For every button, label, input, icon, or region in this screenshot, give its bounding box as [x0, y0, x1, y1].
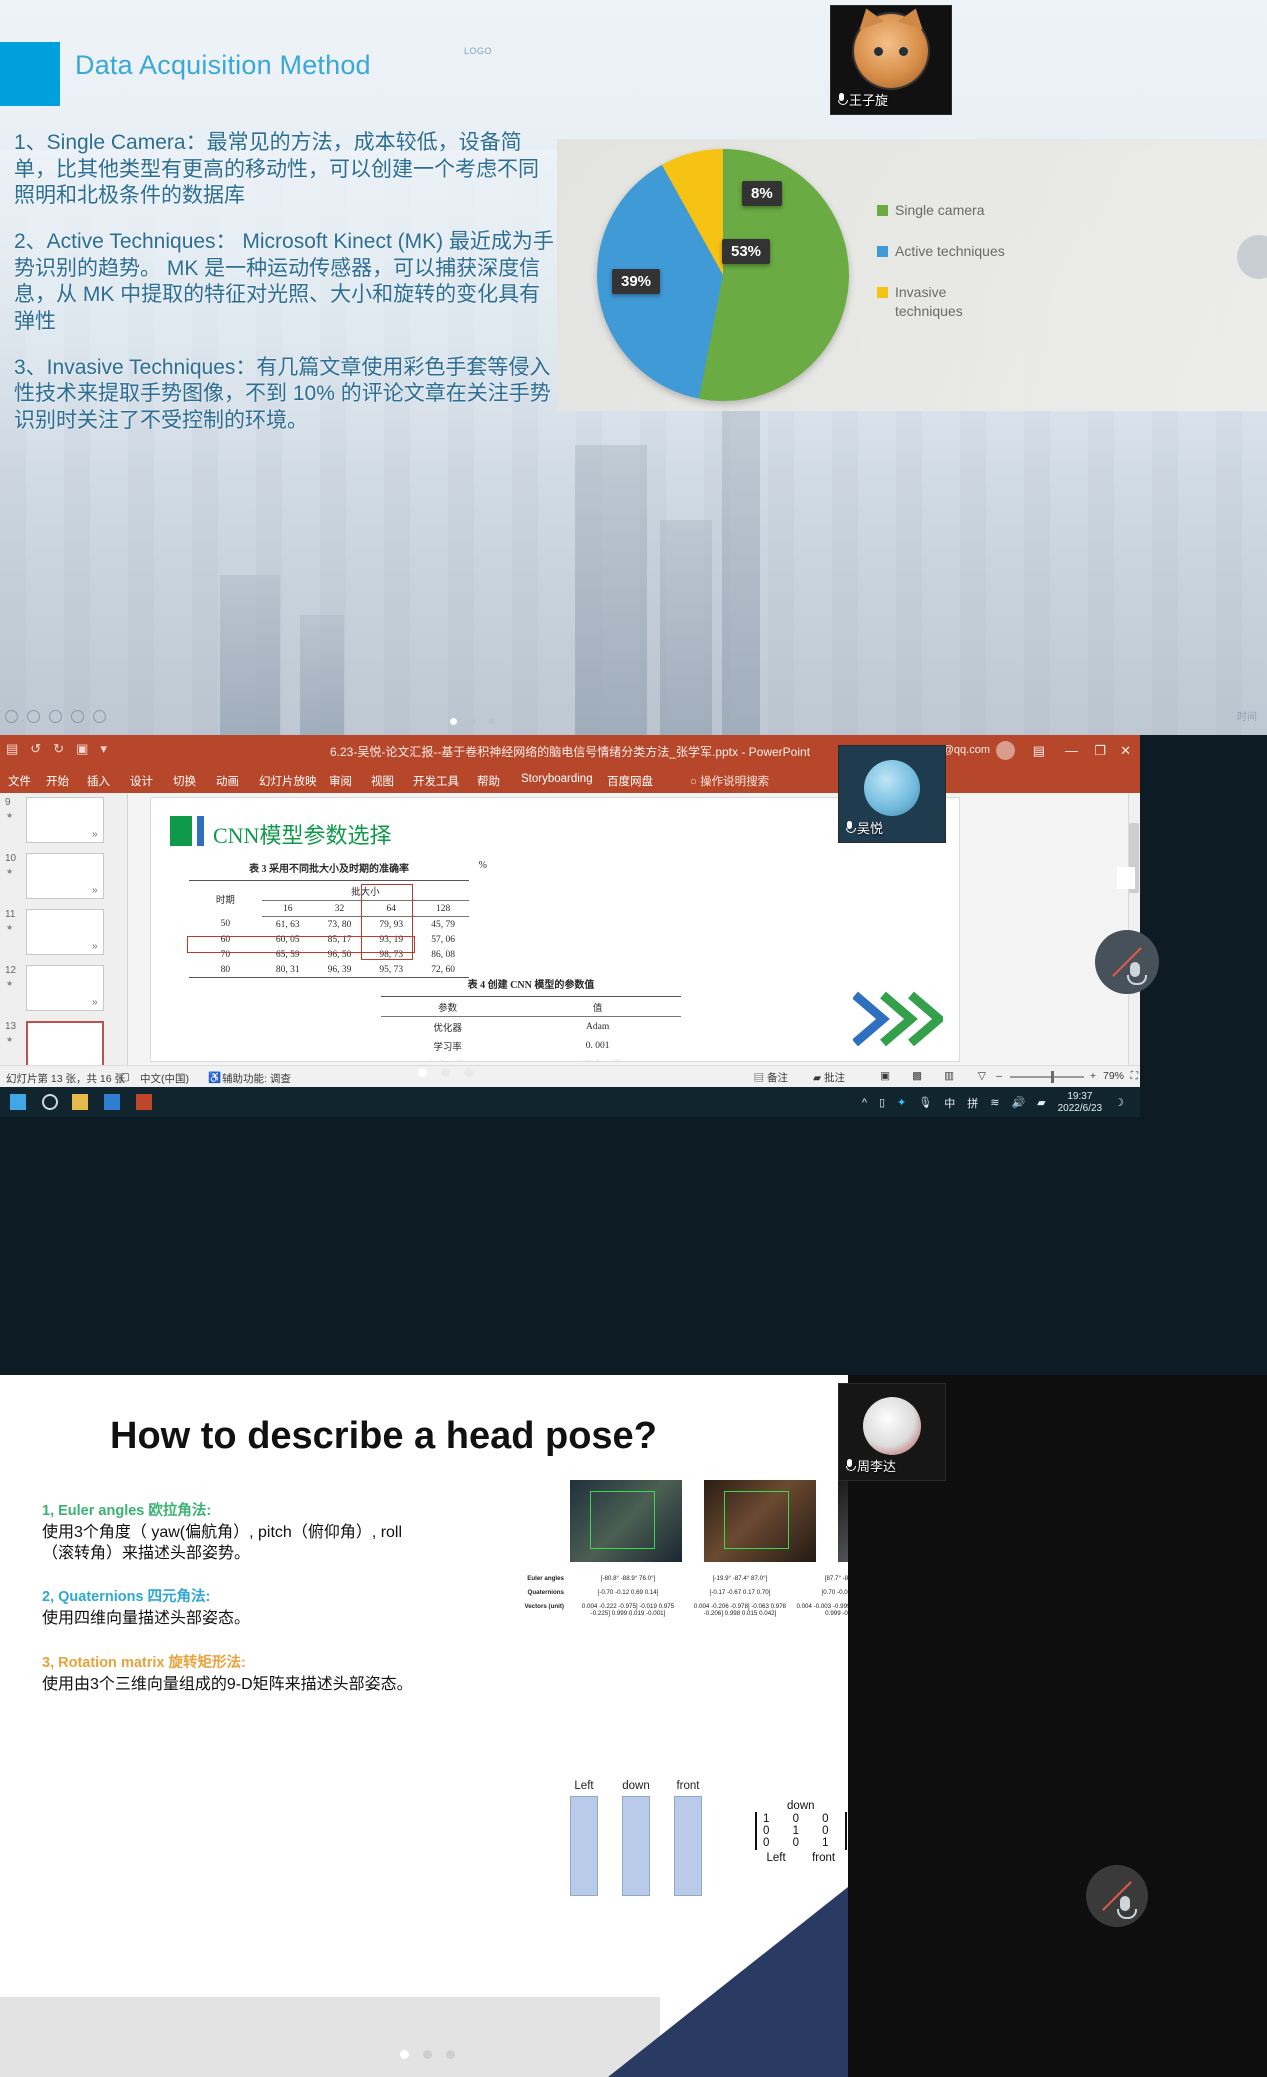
tab-baidu-netdisk[interactable]: 百度网盘 [607, 773, 653, 789]
participant-name-badge: 吴悦 [845, 818, 883, 837]
zoom-in-button[interactable]: + [1090, 1070, 1096, 1082]
legend-label-single-camera: Single camera [895, 201, 985, 220]
matrix-label-front: front [812, 1852, 835, 1864]
table-cell: 损失函数 [381, 1055, 514, 1062]
thumbnail-number-12: 12 [5, 965, 16, 976]
legend-label-active-techniques: Active techniques [895, 242, 1005, 261]
view-slideshow-icon[interactable]: ▽ [978, 1070, 986, 1082]
clock-date: 2022/6/23 [1058, 1103, 1103, 1115]
table-3-caption: 表 3 采用不同批大小及时期的准确率 % [189, 860, 469, 875]
thumbnail-number-10: 10 [5, 853, 16, 864]
bar-down [622, 1796, 650, 1896]
pie-chart: 8% 39% 53% Single camera Active techniqu… [557, 139, 1267, 411]
body-euler-angles: 使用3个角度（ yaw(偏航角）, pitch（俯仰角）, roll（滚转角）来… [42, 1523, 422, 1565]
table-cell: 96, 39 [314, 962, 366, 978]
table-cell: 0.004 -0.222 -0.975] -0.019 0.975 -0.225… [572, 1603, 684, 1617]
slide-canvas: How to describe a head pose? 1, Euler an… [0, 1375, 848, 2077]
thumbnail-number-13: 13 [5, 1021, 16, 1032]
microphone-icon [845, 821, 854, 834]
title-accent-green [170, 816, 192, 846]
participant-name: 王子旋 [849, 90, 888, 109]
logo-placeholder: LOGO [464, 46, 492, 56]
thumbnail-star-10: ★ [6, 867, 13, 876]
carousel-dot-3[interactable] [464, 1068, 473, 1077]
taskbar-clock[interactable]: 19:37 2022/6/23 [1058, 1091, 1103, 1114]
fit-to-window-icon[interactable]: ⛶ [1131, 1070, 1138, 1083]
bullet-single-camera: 1、Single Camera：最常见的方法，成本较低，设备简单，比其他类型有更… [14, 130, 559, 210]
table-4-col-value: 值 [514, 997, 681, 1017]
thumbnail-chevron-11[interactable]: » [92, 941, 98, 952]
carousel-dots[interactable] [400, 2050, 455, 2059]
heading-quaternions: 2, Quaternions 四元角法: [42, 1585, 422, 1606]
carousel-dot-2[interactable] [469, 718, 476, 725]
table-row: 50 61, 63 73, 80 79, 93 45, 79 [189, 917, 469, 933]
zoom-slider-knob[interactable] [1051, 1071, 1054, 1083]
thumbnail-star-12: ★ [6, 979, 13, 988]
thumbnail-chevron-9[interactable]: » [92, 829, 98, 840]
ime-type-indicator[interactable]: 拼 [967, 1095, 978, 1111]
windows-taskbar[interactable]: ^ ▯ ✦ 🎙 中 拼 ≋ 🔊 ▰ 19:37 2022/6/23 ☽ [0, 1087, 1140, 1117]
row-label-quaternions: Quaternions [510, 1589, 572, 1596]
zoom-slider-track[interactable] [1010, 1076, 1084, 1078]
tab-animations[interactable]: 动画 [216, 773, 239, 789]
body-rotation-matrix: 使用由3个三维向量组成的9-D矩阵来描述头部姿态。 [42, 1675, 422, 1696]
table-row: 损失函数分类交叉熵 [381, 1055, 681, 1062]
carousel-dot-1[interactable] [400, 2050, 409, 2059]
table-cell: 86, 08 [417, 947, 469, 962]
bar-front [674, 1796, 702, 1896]
ribbon-display-options-icon[interactable]: ▤ [1033, 743, 1045, 759]
tab-help[interactable]: 帮助 [477, 773, 500, 789]
avatar [863, 1397, 921, 1455]
pie-label-active: 39% [612, 269, 660, 294]
legend-item-single-camera: Single camera [877, 201, 1005, 220]
matrix-label-left: Left [766, 1852, 785, 1864]
avatar [854, 14, 928, 88]
face-image-1 [570, 1480, 682, 1562]
pie-label-single: 53% [722, 239, 770, 264]
powerpoint-taskbar-icon[interactable] [136, 1094, 152, 1110]
view-reading-icon[interactable]: ▥ [944, 1070, 954, 1082]
bar-label-down: down [622, 1780, 650, 1792]
table-cell: 0.004 -0.206 -0.978] -0.063 0.978 -0.206… [684, 1603, 796, 1617]
table-cell: 57, 06 [417, 932, 469, 947]
table-cell: [-0.70 -0.12 0.69 0.14] [572, 1589, 684, 1596]
thumbnail-star-13: ★ [6, 1035, 13, 1044]
matrix-row-1: 1 0 0 [763, 1813, 839, 1825]
file-explorer-icon[interactable] [72, 1094, 88, 1110]
face-bounding-box [590, 1491, 655, 1548]
lightbulb-icon: ○ [690, 776, 700, 788]
status-bar: 幻灯片第 13 张，共 16 张 ▢ 中文(中国) ♿ 辅助功能: 调查 ▤ 备… [0, 1065, 1140, 1087]
heading-rotation-matrix: 3, Rotation matrix 旋转矩形法: [42, 1651, 422, 1672]
corner-decoration [608, 1887, 848, 2077]
row-label-euler: Euler angles [510, 1575, 572, 1582]
clock-time: 19:37 [1058, 1091, 1103, 1103]
carousel-dot-3[interactable] [446, 2050, 455, 2059]
carousel-dot-1[interactable] [418, 1068, 427, 1077]
title-bar: ▤ ↺ ↻ ▣ ▾ 6.23-吴悦-论文汇报--基于卷积神经网络的脑电信号情绪分… [0, 735, 1140, 768]
microphone-tray-icon[interactable]: 🎙 [918, 1096, 932, 1109]
footer-band [0, 1997, 660, 2077]
participant-name-badge: 王子旋 [837, 90, 888, 109]
matrix-row-3: 0 0 1 [763, 1837, 839, 1849]
tab-view[interactable]: 视图 [371, 773, 394, 789]
bar-label-left: Left [570, 1780, 598, 1792]
thumbnail-chevron-10[interactable]: » [92, 885, 98, 896]
table-cell: 分类交叉熵 [514, 1055, 681, 1062]
legend-swatch-blue [877, 246, 888, 257]
table-3-row-header: 时期 [189, 881, 262, 917]
bar-row [570, 1796, 702, 1896]
bullet-active-techniques: 2、Active Techniques： Microsoft Kinect (M… [14, 229, 559, 336]
table-3-col-128: 128 [417, 901, 469, 917]
table-cell: [-80.8° -88.9° 76.0°] [572, 1575, 684, 1582]
carousel-dot-2[interactable] [423, 2050, 432, 2059]
view-sorter-icon[interactable]: ▩ [912, 1070, 922, 1082]
participant-name: 周李达 [857, 1456, 896, 1475]
pie-chart-legend: Single camera Active techniques Invasive… [877, 201, 1005, 343]
system-tray[interactable]: ^ ▯ ✦ 🎙 中 拼 ≋ 🔊 ▰ 19:37 2022/6/23 ☽ [862, 1091, 1124, 1114]
page-title: How to describe a head pose? [110, 1415, 657, 1458]
tab-slideshow[interactable]: 幻灯片放映 [259, 773, 317, 789]
table-4-col-param: 参数 [381, 997, 514, 1017]
body-quaternions: 使用四维向量描述头部姿态。 [42, 1609, 422, 1630]
ime-mode-indicator[interactable]: 中 [944, 1095, 955, 1111]
thumbnail-chevron-12[interactable]: » [92, 997, 98, 1008]
table-3-col-16: 16 [262, 901, 314, 917]
tell-me-search[interactable]: ○ 操作说明搜索 [690, 773, 769, 789]
battery-icon[interactable]: ▰ [1037, 1096, 1045, 1109]
face-image-2 [704, 1480, 816, 1562]
close-button[interactable]: ✕ [1120, 743, 1131, 759]
participant-name: 吴悦 [857, 818, 883, 837]
powerpoint-window[interactable]: ▤ ↺ ↻ ▣ ▾ 6.23-吴悦-论文汇报--基于卷积神经网络的脑电信号情绪分… [0, 735, 1267, 1375]
microphone-icon [845, 1459, 854, 1472]
highlight-row-70 [187, 936, 415, 953]
slide-body-text: 1, Euler angles 欧拉角法: 使用3个角度（ yaw(偏航角）, … [42, 1485, 422, 1696]
table-cell: 0. 001 [514, 1036, 681, 1055]
table-row: 优化器Adam [381, 1017, 681, 1037]
mute-microphone-button[interactable] [1095, 930, 1159, 994]
bar-labels: Left down front [570, 1780, 702, 1792]
axis-bars-diagram: Left down front [570, 1780, 702, 1896]
meeting-side-panel [1140, 735, 1267, 1375]
table-cell: 73, 80 [314, 917, 366, 933]
legend-item-active-techniques: Active techniques [877, 242, 1005, 261]
table-3-col-32: 32 [314, 901, 366, 917]
page-title: Data Acquisition Method [75, 50, 371, 81]
ribbon-tab-bar[interactable]: 文件 开始 插入 设计 切换 动画 幻灯片放映 审阅 视图 开发工具 帮助 St… [0, 768, 1140, 793]
minimize-button[interactable]: — [1065, 743, 1078, 758]
thumbnail-slide-13-selected[interactable] [26, 1021, 104, 1065]
microphone-icon [837, 93, 846, 106]
notes-button[interactable]: ▤ 备注 [754, 1070, 788, 1085]
bullet-invasive-techniques: 3、Invasive Techniques：有几篇文章使用彩色手套等侵入性技术来… [14, 355, 559, 435]
matrix-row-2: 0 1 0 [763, 1825, 839, 1837]
slide-body-text: 1、Single Camera：最常见的方法，成本较低，设备简单，比其他类型有更… [14, 130, 559, 454]
table-cell: 61, 63 [262, 917, 314, 933]
table-3: 表 3 采用不同批大小及时期的准确率 % 时期 批大小 16 32 64 128 [189, 860, 469, 978]
row-label-vectors: Vectors (unit) [510, 1603, 572, 1617]
face-bounding-box [724, 1491, 789, 1548]
legend-label-invasive-techniques: Invasive techniques [895, 283, 990, 321]
matrix-bracket: 1 0 0 0 1 0 0 0 1 [755, 1812, 847, 1850]
slideshow-toolbar[interactable] [5, 710, 106, 723]
slides-grid-icon[interactable] [71, 710, 84, 723]
zoom-level[interactable]: 79% [1103, 1070, 1124, 1082]
table-row: 学习率0. 001 [381, 1036, 681, 1055]
identity-matrix-diagram: down 1 0 0 0 1 0 0 0 1 Left front [755, 1800, 847, 1864]
table-cell: Adam [514, 1017, 681, 1037]
table-3-epoch-50: 50 [189, 917, 262, 933]
tab-storyboarding[interactable]: Storyboarding [521, 773, 593, 785]
accessibility-icon[interactable]: ♿ [208, 1071, 221, 1084]
chevron-decoration [853, 991, 943, 1047]
pointer-tool-icon[interactable] [27, 710, 40, 723]
bar-label-front: front [674, 1780, 702, 1792]
table-cell: 45, 79 [417, 917, 469, 933]
vertical-scrollbar[interactable] [1128, 793, 1140, 1065]
tab-file[interactable]: 文件 [8, 773, 31, 789]
thumbnail-number-11: 11 [5, 909, 15, 920]
more-options-icon[interactable] [93, 710, 106, 723]
slide-thumbnail-pane[interactable]: 9 ★ » 10 ★ » 11 ★ » 12 ★ » 13 ★ [0, 793, 128, 1065]
legend-swatch-green [877, 205, 888, 216]
title-accent-blue [197, 816, 204, 846]
pen-tool-icon[interactable] [5, 710, 18, 723]
carousel-dot-2[interactable] [441, 1068, 450, 1077]
mute-microphone-button[interactable] [1086, 1865, 1148, 1927]
video-tile-presenter[interactable]: 吴悦 [838, 745, 946, 843]
search-icon[interactable] [42, 1094, 58, 1110]
tab-design[interactable]: 设计 [130, 773, 153, 789]
editor-area: 9 ★ » 10 ★ » 11 ★ » 12 ★ » 13 ★ CNN模型参数选… [0, 793, 1140, 1065]
tab-insert[interactable]: 插入 [87, 773, 110, 789]
battery-tray-icon[interactable]: ▯ [879, 1096, 885, 1109]
comments-button[interactable]: ▰ 批注 [813, 1070, 845, 1085]
table-3-epoch-80: 80 [189, 962, 262, 978]
carousel-dot-1[interactable] [450, 718, 457, 725]
carousel-dot-3[interactable] [488, 718, 495, 725]
video-tile-self[interactable]: 王子旋 [830, 5, 952, 115]
heading-euler-angles: 1, Euler angles 欧拉角法: [42, 1499, 422, 1520]
video-tile-participant[interactable]: 周李达 [838, 1383, 946, 1481]
legend-item-invasive-techniques: Invasive techniques [877, 283, 1005, 321]
table-3-unit: % [479, 860, 487, 871]
bar-left [570, 1796, 598, 1896]
show-hidden-icons-chevron[interactable]: ^ [862, 1097, 867, 1109]
account-avatar[interactable] [996, 741, 1015, 760]
volume-icon[interactable]: 🔊 [1011, 1096, 1025, 1109]
moon-notifications-icon[interactable]: ☽ [1114, 1096, 1124, 1109]
table-cell: 学习率 [381, 1036, 514, 1055]
table-4-caption: 表 4 创建 CNN 模型的参数值 [381, 976, 681, 991]
view-normal-icon[interactable]: ▣ [880, 1070, 890, 1082]
table-cell: [-0.17 -0.67 0.17 0.70] [684, 1589, 796, 1596]
participant-name-badge: 周李达 [845, 1456, 896, 1475]
language-indicator[interactable]: 中文(中国) [140, 1071, 189, 1086]
highlighter-icon[interactable] [49, 710, 62, 723]
thumbnail-star-11: ★ [6, 923, 13, 932]
slide-title: CNN模型参数选择 [213, 818, 391, 850]
wifi-icon[interactable]: ≋ [990, 1096, 999, 1109]
slide-data-acquisition: Data Acquisition Method LOGO 1、Single Ca… [0, 0, 1267, 735]
table-4: 表 4 创建 CNN 模型的参数值 参数 值 优化器Adam 学习率0. 001… [381, 976, 681, 1062]
carousel-dots[interactable] [450, 718, 495, 725]
timestamp-label: 时间 [1237, 708, 1257, 723]
tab-review[interactable]: 审阅 [329, 773, 352, 789]
tab-developer[interactable]: 开发工具 [413, 773, 459, 789]
restore-button[interactable]: ❐ [1094, 743, 1106, 759]
avatar [864, 760, 920, 816]
slide-head-pose: How to describe a head pose? 1, Euler an… [0, 1375, 1267, 2077]
table-4-header-row: 参数 值 [381, 997, 681, 1017]
thumbnail-star-9: ★ [6, 811, 13, 820]
table-cell: 优化器 [381, 1017, 514, 1037]
matrix-label-down: down [755, 1800, 847, 1812]
legend-swatch-yellow [877, 287, 888, 298]
tab-transitions[interactable]: 切换 [173, 773, 196, 789]
accessibility-status[interactable]: 辅助功能: 调查 [222, 1071, 291, 1086]
thumbnail-number-9: 9 [5, 797, 11, 808]
panel-edge-artifact [1117, 867, 1135, 889]
table-cell: 80, 31 [262, 962, 314, 978]
notification-pin-icon[interactable]: ✦ [897, 1096, 906, 1109]
slide-counter: 幻灯片第 13 张，共 16 张 [6, 1071, 125, 1086]
pie-label-invasive: 8% [742, 181, 782, 206]
carousel-dots[interactable] [418, 1068, 473, 1077]
zoom-out-button[interactable]: – [996, 1070, 1002, 1082]
start-button-icon[interactable] [10, 1094, 26, 1110]
spellcheck-icon[interactable]: ▢ [120, 1071, 130, 1083]
title-accent-block [0, 42, 60, 106]
tab-home[interactable]: 开始 [46, 773, 69, 789]
table-cell: [-19.9° -87.4° 87.0°] [684, 1575, 796, 1582]
edge-icon[interactable] [104, 1094, 120, 1110]
